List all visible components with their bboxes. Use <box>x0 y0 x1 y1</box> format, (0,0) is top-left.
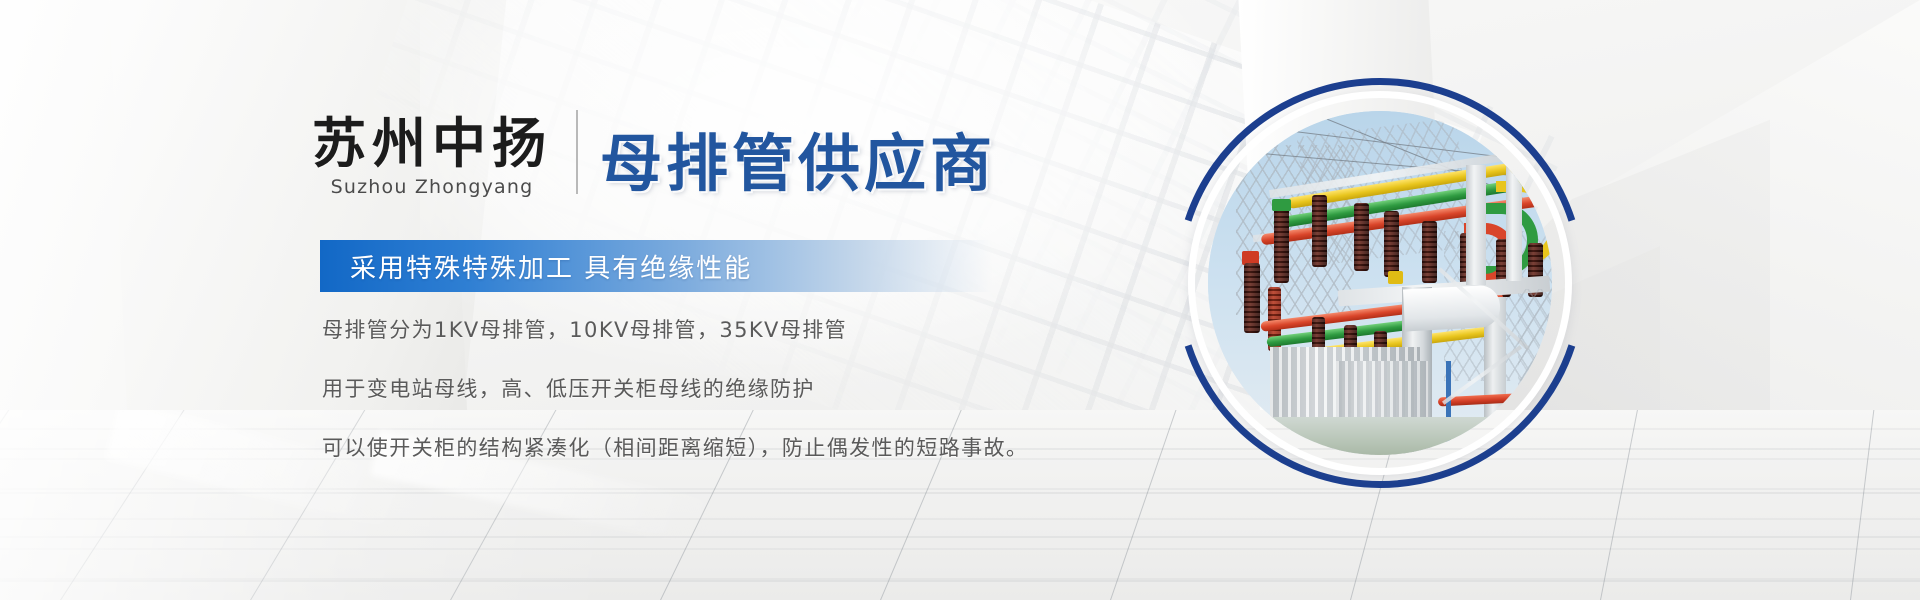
insulator-cap-yellow <box>1388 271 1403 284</box>
brand-lockup: 苏州中扬 Suzhou Zhongyang <box>312 116 552 198</box>
insulator-stack-2 <box>1312 195 1327 267</box>
background-tower-right <box>1518 289 1552 399</box>
feature-item-1: 母排管分为1KV母排管，10KV母排管，35KV母排管 <box>322 318 1028 343</box>
brand-divider <box>576 110 578 194</box>
insulator-stack-4 <box>1384 211 1399 277</box>
brand-name-cn: 苏州中扬 <box>312 116 552 172</box>
feature-list: 母排管分为1KV母排管，10KV母排管，35KV母排管 用于变电站母线，高、低压… <box>322 318 1028 462</box>
banner-content: 苏州中扬 Suzhou Zhongyang 母排管供应商 采用特殊特殊加工 具有… <box>0 0 1920 600</box>
brand-headline-row: 苏州中扬 Suzhou Zhongyang 母排管供应商 <box>312 110 996 198</box>
insulator-stack-3 <box>1354 203 1369 271</box>
insulator-stack-5 <box>1422 221 1437 283</box>
insulator-tall-left <box>1244 263 1260 333</box>
insulator-cap-green <box>1272 199 1291 211</box>
strapline-text: 采用特殊特殊加工 具有绝缘性能 <box>320 248 752 285</box>
feature-item-3: 可以使开关柜的结构紧凑化（相间距离缩短），防止偶发性的短路事故。 <box>322 436 1028 461</box>
page-title: 母排管供应商 <box>600 131 996 196</box>
product-photo-circle <box>1175 78 1585 488</box>
feature-item-2: 用于变电站母线，高、低压开关柜母线的绝缘防护 <box>322 377 1028 402</box>
brand-name-en: Suzhou Zhongyang <box>331 176 534 198</box>
main-column-far-right <box>1506 161 1522 281</box>
strapline-bar: 采用特殊特殊加工 具有绝缘性能 <box>320 240 992 292</box>
photo-ground <box>1208 417 1552 455</box>
banner-stage: 苏州中扬 Suzhou Zhongyang 母排管供应商 采用特殊特殊加工 具有… <box>0 0 1920 600</box>
main-column-right-2 <box>1466 165 1486 285</box>
insulator-stack-1 <box>1274 207 1289 283</box>
substation-photo <box>1208 111 1552 455</box>
